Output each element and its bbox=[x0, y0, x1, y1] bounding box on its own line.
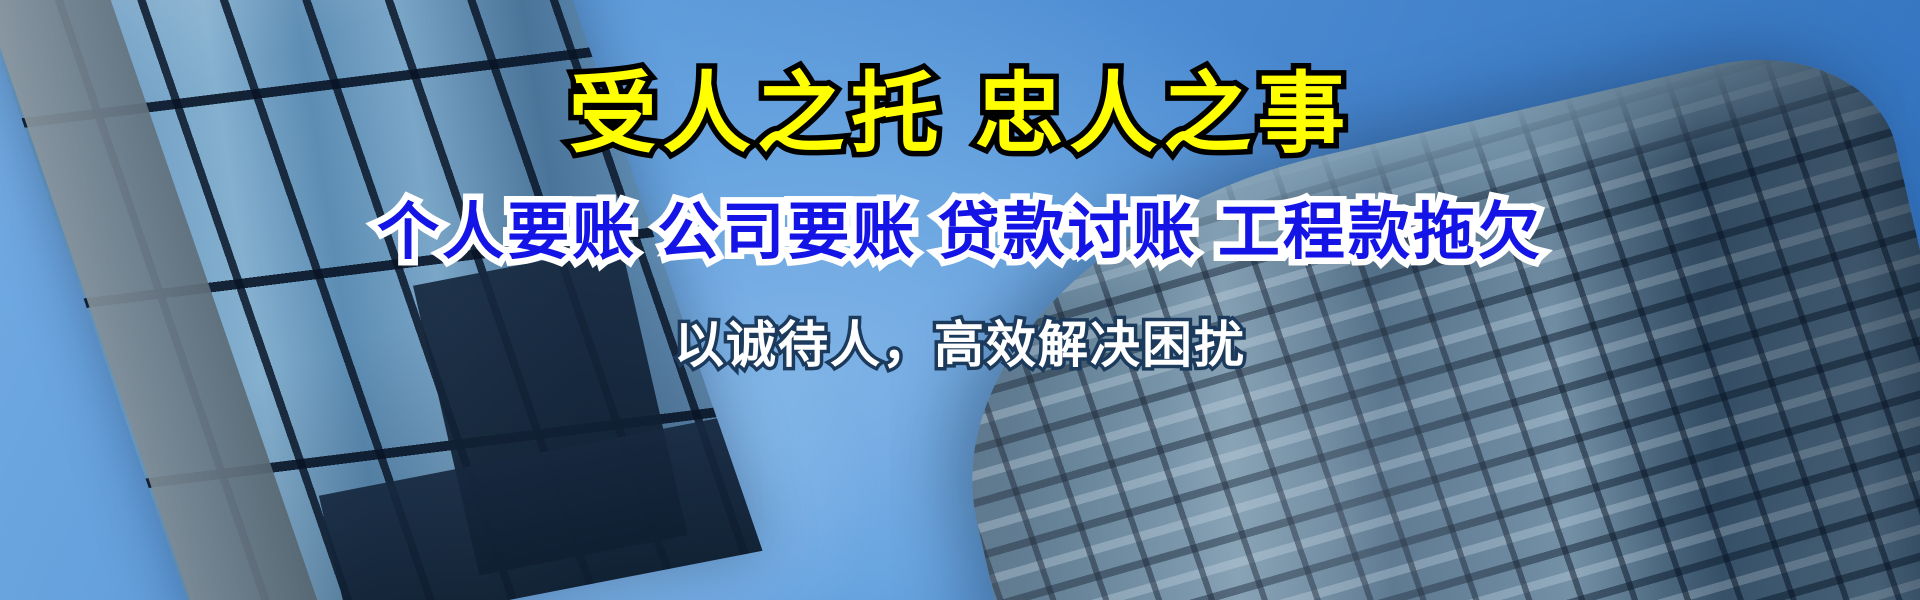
promo-banner: 受人之托 忠人之事 个人要账 公司要账 贷款讨账 工程款拖欠 以诚待人，高效解决… bbox=[0, 0, 1920, 600]
